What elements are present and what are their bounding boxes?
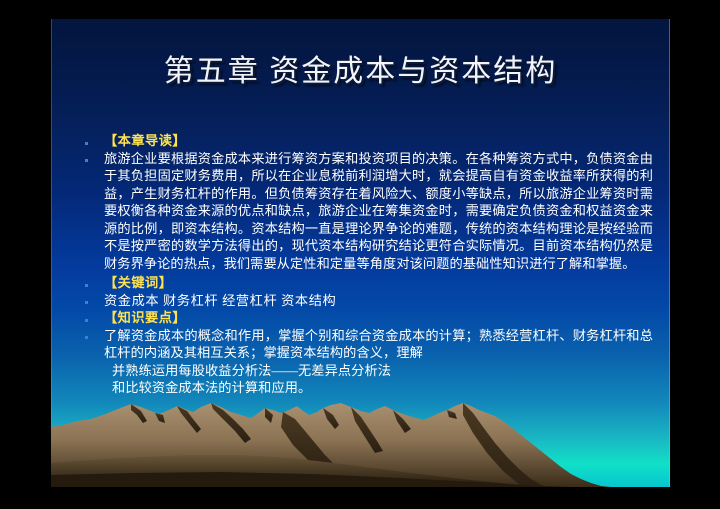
- slide-title: 第五章 资金成本与资本结构: [51, 52, 670, 92]
- bullet-row-daodu-paragraph: 旅游企业要根据资金成本来进行筹资方案和投资项目的决策。在各种筹资方式中，负债资金…: [78, 150, 653, 273]
- presentation-screen: 第五章 资金成本与资本结构 【本章导读】 旅游企业要根据资金成本来进行筹资方案和…: [0, 0, 720, 509]
- square-bullet-icon: [78, 132, 104, 149]
- square-bullet-icon: [78, 309, 104, 326]
- yaodian-line-3: 和比较资金成本法的计算和应用。: [104, 379, 653, 397]
- square-bullet-icon: [78, 292, 104, 309]
- yaodian-line-2: 并熟练运用每股收益分析法——无差异点分析法: [104, 362, 653, 380]
- yaodian-line-1: 了解资金成本的概念和作用，掌握个别和综合资金成本的计算；熟悉经营杠杆、财务杠杆和…: [104, 328, 653, 361]
- square-bullet-icon: [78, 150, 104, 167]
- slide-body: 【本章导读】 旅游企业要根据资金成本来进行筹资方案和投资项目的决策。在各种筹资方…: [78, 132, 653, 397]
- heading-benzhang-daodu: 【本章导读】: [104, 132, 653, 150]
- slide-canvas: 第五章 资金成本与资本结构 【本章导读】 旅游企业要根据资金成本来进行筹资方案和…: [51, 19, 670, 487]
- bullet-row-benzhang-daodu: 【本章导读】: [78, 132, 653, 150]
- bullet-row-guanjianci: 【关键词】: [78, 274, 653, 292]
- heading-guanjianci: 【关键词】: [104, 274, 653, 292]
- heading-zhishi-yaodian: 【知识要点】: [104, 309, 653, 327]
- paragraph-daodu: 旅游企业要根据资金成本来进行筹资方案和投资项目的决策。在各种筹资方式中，负债资金…: [104, 150, 653, 273]
- square-bullet-icon: [78, 327, 104, 344]
- paragraph-yaodian: 了解资金成本的概念和作用，掌握个别和综合资金成本的计算；熟悉经营杠杆、财务杠杆和…: [104, 327, 653, 397]
- bullet-row-zhishi-yaodian: 【知识要点】: [78, 309, 653, 327]
- square-bullet-icon: [78, 274, 104, 291]
- bullet-row-yaodian-paragraph: 了解资金成本的概念和作用，掌握个别和综合资金成本的计算；熟悉经营杠杆、财务杠杆和…: [78, 327, 653, 397]
- keywords-list: 资金成本 财务杠杆 经营杠杆 资本结构: [104, 292, 653, 310]
- bullet-row-keywords: 资金成本 财务杠杆 经营杠杆 资本结构: [78, 292, 653, 310]
